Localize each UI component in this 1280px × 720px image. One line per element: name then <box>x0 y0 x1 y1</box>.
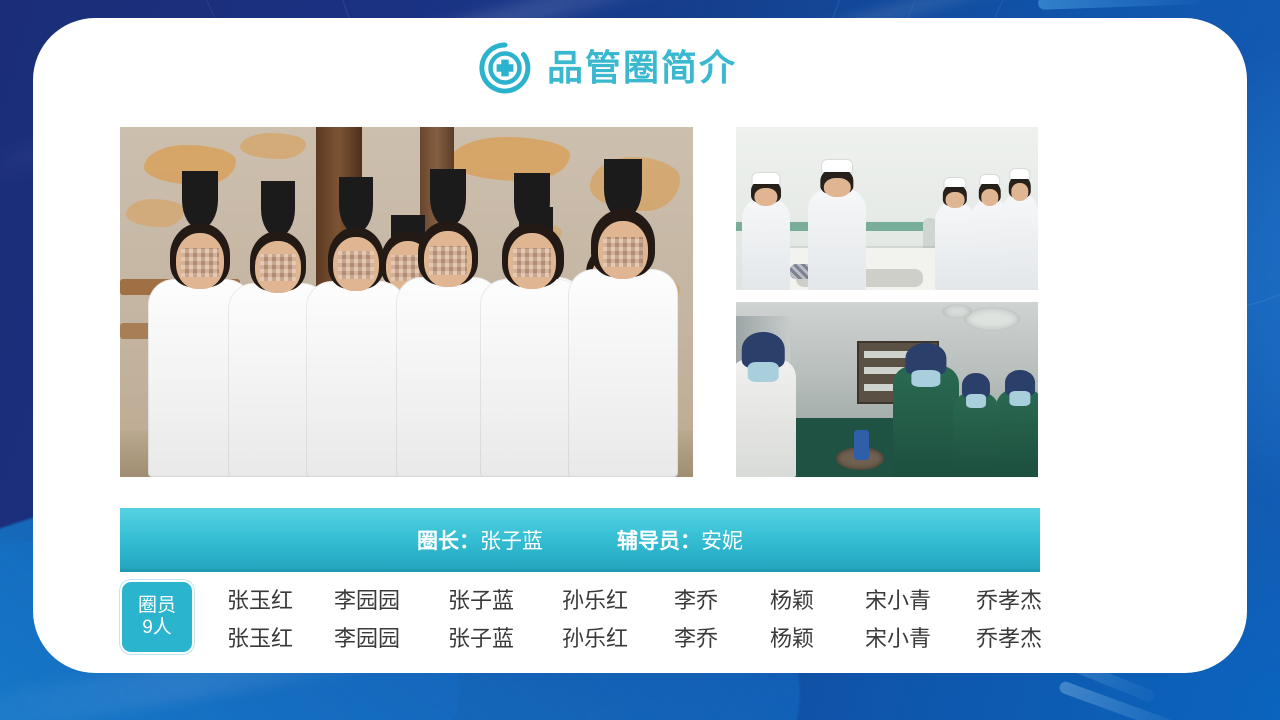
page-title: 品管圈简介 <box>547 50 737 86</box>
member-count-badge: 圈员 9人 <box>120 580 194 654</box>
member-name: 乔孝杰 <box>954 621 1064 653</box>
medical-cross-circle-icon <box>477 40 533 96</box>
member-name: 宋小青 <box>842 583 954 615</box>
leadership-banner: 圈长：张子蓝 辅导员：安妮 <box>120 508 1040 572</box>
circle-advisor-name: 安妮 <box>701 530 743 553</box>
member-name: 张玉红 <box>208 583 312 615</box>
member-name: 李乔 <box>650 621 742 653</box>
member-badge-count: 9人 <box>142 617 172 639</box>
member-row: 张玉红 李园园 张子蓝 孙乐红 李乔 杨颖 宋小青 乔孝杰 <box>208 580 1064 618</box>
member-section: 圈员 9人 张玉红 李园园 张子蓝 孙乐红 李乔 杨颖 宋小青 乔孝杰 张玉红 … <box>120 580 1040 656</box>
member-name: 李园园 <box>312 583 422 615</box>
member-row: 张玉红 李园园 张子蓝 孙乐红 李乔 杨颖 宋小青 乔孝杰 <box>208 618 1064 656</box>
member-name: 孙乐红 <box>540 621 650 653</box>
banner-underline <box>120 569 1040 572</box>
member-badge-title: 圈员 <box>138 595 176 617</box>
photo-gallery <box>120 127 1040 477</box>
member-list: 张玉红 李园园 张子蓝 孙乐红 李乔 杨颖 宋小青 乔孝杰 张玉红 李园园 张子… <box>194 580 1064 656</box>
slide: 品管圈简介 <box>0 0 1280 720</box>
member-name: 杨颖 <box>742 583 842 615</box>
member-name: 乔孝杰 <box>954 583 1064 615</box>
operating-room-photo <box>736 302 1038 477</box>
nursing-training-photo <box>736 127 1038 290</box>
member-name: 孙乐红 <box>540 583 650 615</box>
slide-header: 品管圈简介 <box>0 40 1214 96</box>
circle-advisor: 辅导员：安妮 <box>617 525 743 555</box>
member-name: 张子蓝 <box>422 583 540 615</box>
circle-leader-label: 圈长： <box>417 530 480 553</box>
member-name: 李园园 <box>312 621 422 653</box>
member-name: 张玉红 <box>208 621 312 653</box>
member-name: 李乔 <box>650 583 742 615</box>
member-name: 杨颖 <box>742 621 842 653</box>
circle-advisor-label: 辅导员： <box>617 530 701 553</box>
team-group-photo <box>120 127 693 477</box>
member-name: 张子蓝 <box>422 621 540 653</box>
circle-leader-name: 张子蓝 <box>480 530 543 553</box>
circle-leader: 圈长：张子蓝 <box>417 525 543 555</box>
member-name: 宋小青 <box>842 621 954 653</box>
